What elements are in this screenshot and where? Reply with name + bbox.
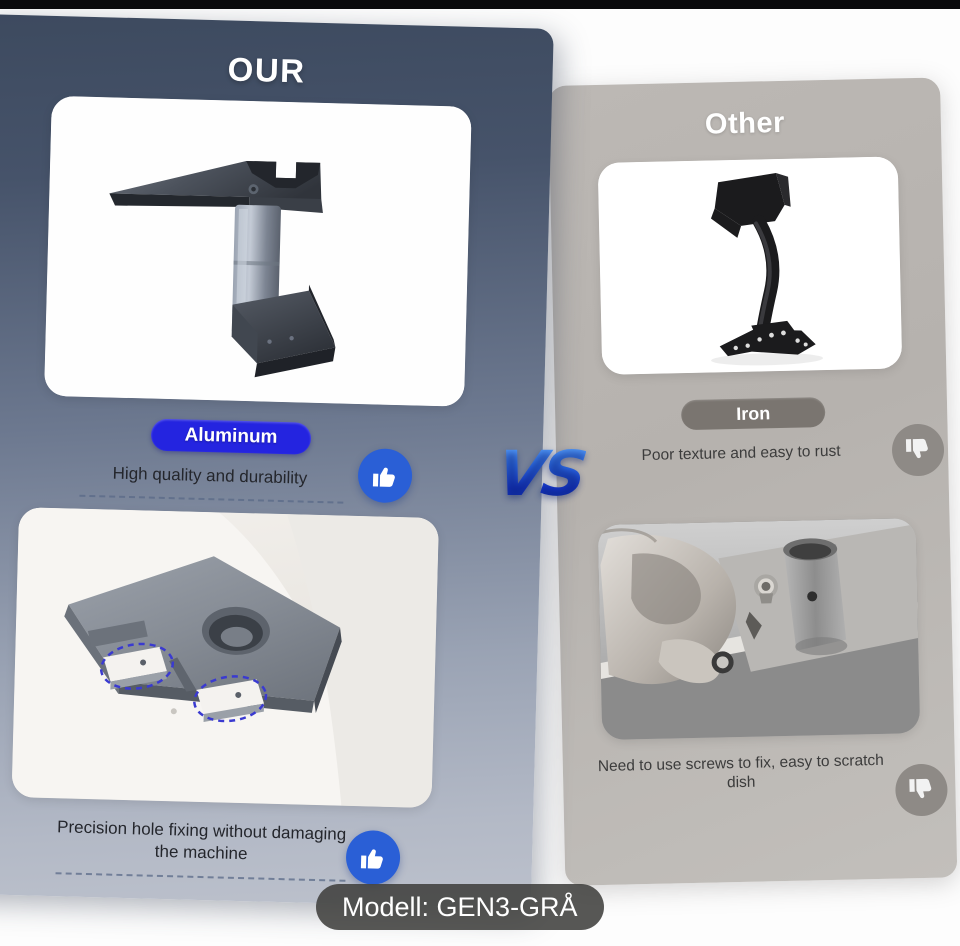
other-caption-1: Poor texture and easy to rust: [576, 440, 906, 466]
our-caption-2: Precision hole fixing without damaging t…: [56, 816, 347, 868]
precision-hole-illustration: [12, 507, 439, 808]
thumbs-up-glyph: [370, 460, 401, 491]
our-panel-title: OUR: [0, 44, 553, 97]
aluminum-bracket-illustration: [44, 96, 472, 407]
caption-divider: [56, 872, 346, 882]
other-panel-title: Other: [549, 103, 942, 145]
versus-badge: VS: [474, 418, 606, 528]
model-label-pill: Modell: GEN3-GRÅ: [316, 884, 604, 930]
our-product-photo-1: [44, 96, 472, 407]
our-product-photo-2: [12, 507, 439, 808]
hand-screw-illustration: [598, 518, 921, 740]
top-black-bar: [0, 0, 960, 9]
infographic-canvas: Other: [0, 0, 960, 946]
thumbs-down-glyph: [906, 775, 937, 806]
thumbs-down-icon: [895, 763, 948, 816]
versus-label: VS: [493, 437, 588, 510]
thumbs-down-icon: [891, 423, 944, 476]
thumbs-up-icon: [357, 448, 412, 503]
caption-divider: [79, 495, 343, 504]
thumbs-up-glyph: [358, 842, 389, 873]
our-panel: OUR: [0, 14, 554, 909]
iron-bracket-illustration: [598, 156, 903, 374]
model-label-text: Modell: GEN3-GRÅ: [342, 892, 578, 923]
other-caption-2: Need to use screws to fix, easy to scrat…: [591, 751, 892, 796]
other-product-photo-1: [598, 156, 903, 374]
iron-badge: Iron: [681, 397, 826, 430]
other-product-photo-2: [598, 518, 921, 740]
thumbs-up-icon: [345, 830, 400, 885]
our-caption-1: High quality and durability: [70, 461, 350, 489]
other-panel: Other: [548, 77, 957, 885]
thumbs-down-glyph: [903, 435, 934, 466]
aluminum-badge: Aluminum: [151, 419, 312, 455]
